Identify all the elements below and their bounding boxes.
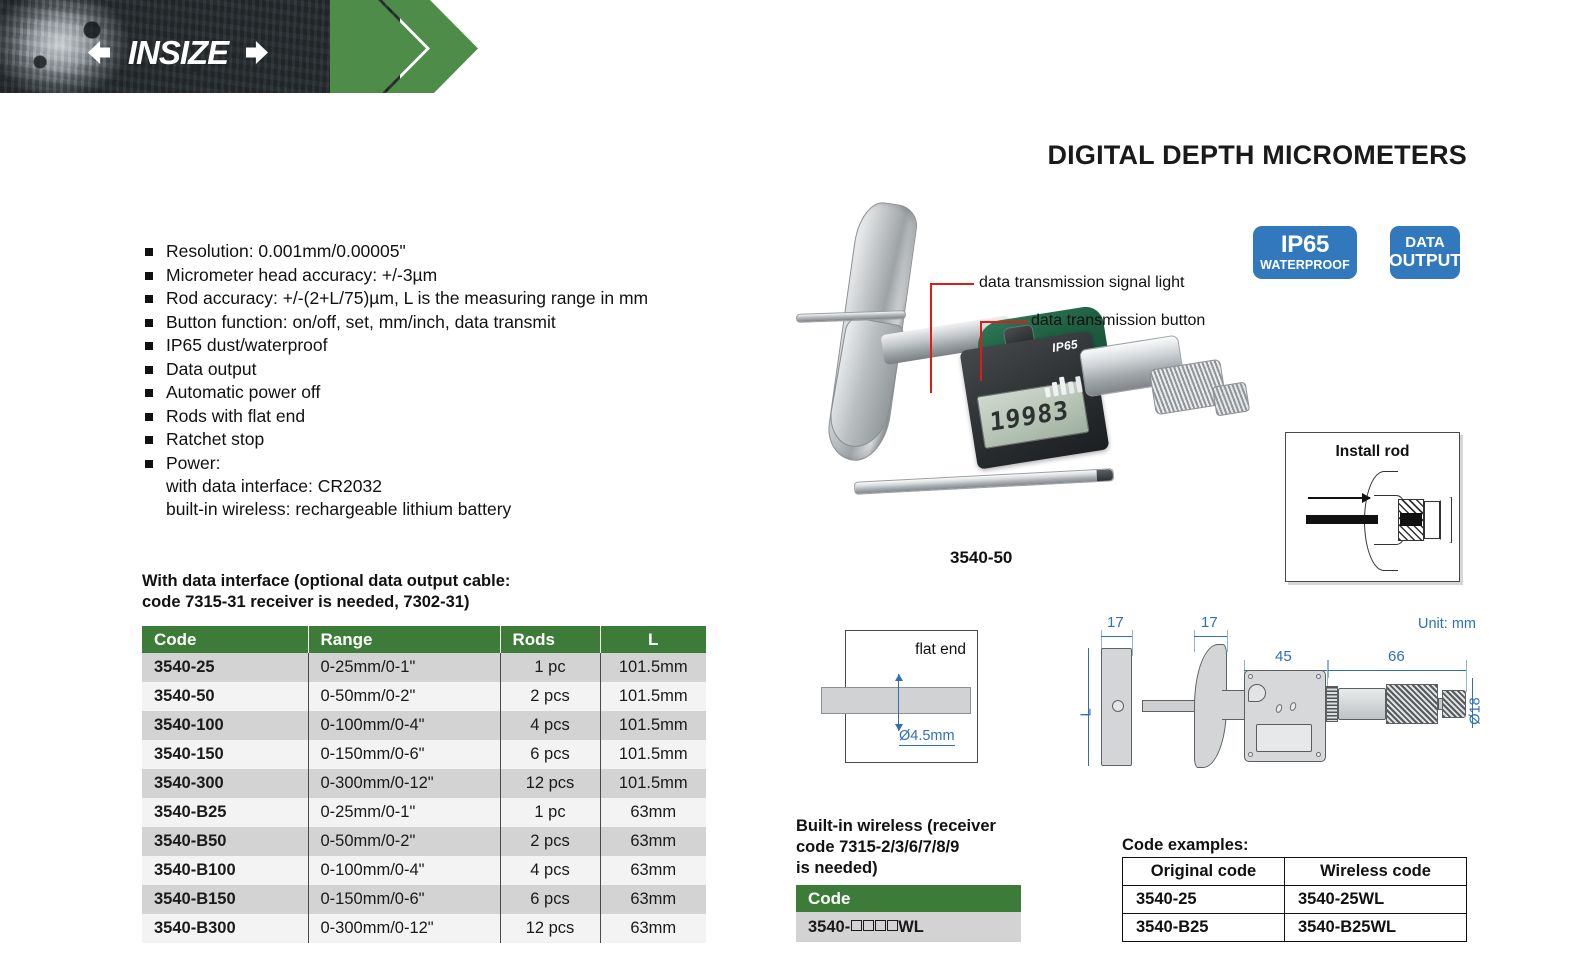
badge-line-2: WATERPROOF (1260, 259, 1350, 272)
cell-range: 0-25mm/0-1" (308, 653, 500, 682)
placeholder-square-icon (875, 920, 886, 931)
square-bullet-icon (145, 295, 153, 303)
cell-range: 0-50mm/0-2" (308, 827, 500, 856)
badge-line-1: IP65 (1281, 233, 1329, 257)
logo-left-arrow-icon (88, 41, 110, 64)
placeholder-square-icon (887, 920, 898, 931)
drawing-ratchet-strip (1326, 686, 1338, 722)
key-bar (1044, 387, 1051, 398)
unit-label: Unit: mm (1418, 616, 1476, 632)
cell-code: 3540-25 (142, 653, 308, 682)
table-row: 3540-25 0-25mm/0-1" 1 pc 101.5mm (142, 653, 706, 682)
square-bullet-icon (145, 413, 153, 421)
extension-line (1466, 660, 1467, 692)
cell-code: 3540-150 (142, 740, 308, 769)
cell-range: 0-100mm/0-4" (308, 711, 500, 740)
spec-item: Button function: on/off, set, mm/inch, d… (143, 311, 783, 334)
spec-item: IP65 dust/waterproof (143, 334, 783, 357)
column-header-wireless-code: Wireless code (1285, 858, 1467, 886)
column-header-range: Range (308, 626, 500, 653)
install-rod-diagram: Install rod (1285, 432, 1460, 582)
banner-divider (0, 93, 1587, 97)
callout-leader-line-vertical (980, 321, 982, 381)
square-bullet-icon (145, 342, 153, 350)
cell-wireless-code-pattern: 3540-WL (796, 912, 1021, 942)
cell-l: 63mm (600, 914, 706, 943)
column-header-code: Code (796, 885, 1021, 912)
spec-item: Rod accuracy: +/-(2+L/75)µm, L is the me… (143, 287, 783, 310)
code-examples-table: Original code Wireless code 3540-25 3540… (1122, 857, 1467, 942)
cell-l: 63mm (600, 798, 706, 827)
badge-line-2: OUTPUT (1389, 252, 1461, 270)
cell-range: 0-150mm/0-6" (308, 740, 500, 769)
table-row: 3540-B25 0-25mm/0-1" 1 pc 63mm (142, 798, 706, 827)
wireless-code-table: Code 3540-WL (796, 885, 1021, 942)
cell-code: 3540-50 (142, 682, 308, 711)
table-row: 3540-50 0-50mm/0-2" 2 pcs 101.5mm (142, 682, 706, 711)
install-direction-arrow-icon (1308, 497, 1370, 499)
cell-original-code: 3540-B25 (1123, 914, 1285, 942)
lcd-value: 19983 (989, 395, 1070, 437)
cell-l: 63mm (600, 856, 706, 885)
dim-body-length: 45 (1275, 648, 1292, 665)
square-bullet-icon (145, 272, 153, 280)
flat-end-diagram: flat end Ø4.5mm (845, 630, 978, 763)
callout-label-signal-light: data transmission signal light (979, 274, 1184, 292)
white-wedge-shape (378, 0, 1587, 97)
drawing-base-neck (1222, 690, 1246, 720)
install-rod-title: Install rod (1286, 443, 1459, 461)
wireless-table-heading: Built-in wireless (receiver code 7315-2/… (796, 816, 1066, 879)
extension-line (1227, 630, 1228, 652)
insize-logo: INSIZE (92, 32, 264, 72)
drawing-cross-rod (1142, 700, 1200, 712)
callout-leader-line-vertical (930, 283, 932, 393)
callout-leader-line-horizontal (930, 283, 974, 285)
cell-code: 3540-300 (142, 769, 308, 798)
cell-rods: 1 pc (500, 798, 600, 827)
cell-rods: 2 pcs (500, 682, 600, 711)
ip65-waterproof-badge: IP65 WATERPROOF (1253, 226, 1357, 279)
key-bar (1068, 381, 1075, 394)
spec-item: Micrometer head accuracy: +/-3µm (143, 264, 783, 287)
cell-code: 3540-B50 (142, 827, 308, 856)
square-bullet-icon (145, 436, 153, 444)
drawing-screw (1248, 752, 1253, 757)
square-bullet-icon (145, 248, 153, 256)
flat-end-title: flat end (915, 641, 966, 659)
spec-item: Power: (143, 452, 783, 475)
square-bullet-icon (145, 460, 153, 468)
callout-label-transmission-button: data transmission button (1031, 312, 1205, 330)
cell-wireless-code: 3540-25WL (1285, 886, 1467, 914)
spec-item: Rods with flat end (143, 405, 783, 428)
cell-l: 101.5mm (600, 769, 706, 798)
square-bullet-icon (145, 389, 153, 397)
drawing-body-loop (1248, 684, 1266, 702)
key-bar (1059, 377, 1067, 396)
cell-rods: 4 pcs (500, 711, 600, 740)
table-row: 3540-B50 0-50mm/0-2" 2 pcs 63mm (142, 827, 706, 856)
table-row: 3540-B300 0-300mm/0-12" 12 pcs 63mm (142, 914, 706, 943)
flat-end-rod-shape (821, 687, 971, 714)
spec-item: Ratchet stop (143, 428, 783, 451)
spec-text: Resolution: 0.001mm/0.00005" (166, 241, 406, 261)
cell-rods: 1 pc (500, 653, 600, 682)
cell-l: 63mm (600, 827, 706, 856)
callout-leader-line-horizontal (980, 321, 1028, 323)
page-title: DIGITAL DEPTH MICROMETERS (1047, 140, 1467, 171)
column-header-l: L (600, 626, 706, 653)
specifications-list: Resolution: 0.001mm/0.00005" Micrometer … (143, 240, 783, 521)
cell-range: 0-300mm/0-12" (308, 914, 500, 943)
key-bar (1052, 382, 1059, 397)
code-suffix: WL (898, 918, 924, 936)
spec-text: Data output (166, 359, 256, 379)
flat-end-dimension-arrow-icon (898, 674, 899, 731)
spec-item: Data output (143, 358, 783, 381)
measuring-rod-accessory (854, 468, 1114, 495)
data-output-badge: DATA OUTPUT (1390, 226, 1460, 279)
square-bullet-icon (145, 366, 153, 374)
code-prefix: 3540- (808, 918, 850, 936)
spec-text: Rod accuracy: +/-(2+L/75)µm, L is the me… (166, 288, 648, 308)
cell-range: 0-25mm/0-1" (308, 798, 500, 827)
dim-height-label: L (1078, 708, 1095, 716)
table-row: 3540-100 0-100mm/0-4" 4 pcs 101.5mm (142, 711, 706, 740)
spec-text: Micrometer head accuracy: +/-3µm (166, 265, 437, 285)
dimension-line (1088, 648, 1089, 766)
cell-code: 3540-B100 (142, 856, 308, 885)
dimension-drawing: Unit: mm 17 17 45 66 L Ø18 (1050, 608, 1480, 783)
table-header-row: Original code Wireless code (1123, 858, 1467, 886)
cell-original-code: 3540-25 (1123, 886, 1285, 914)
cell-code: 3540-B300 (142, 914, 308, 943)
cell-rods: 2 pcs (500, 827, 600, 856)
table-row: 3540-B150 0-150mm/0-6" 6 pcs 63mm (142, 885, 706, 914)
spec-text: Ratchet stop (166, 429, 264, 449)
cell-code: 3540-B25 (142, 798, 308, 827)
cell-range: 0-150mm/0-6" (308, 885, 500, 914)
table-row: 3540-B25 3540-B25WL (1123, 914, 1467, 942)
cell-range: 0-100mm/0-4" (308, 856, 500, 885)
install-segment-two (1440, 497, 1452, 543)
install-dark-section (1400, 513, 1422, 526)
cell-l: 101.5mm (600, 740, 706, 769)
cell-rods: 12 pcs (500, 914, 600, 943)
flat-end-diameter-label: Ø4.5mm (899, 728, 955, 746)
square-bullet-icon (145, 319, 153, 327)
cell-code: 3540-100 (142, 711, 308, 740)
cell-l: 101.5mm (600, 682, 706, 711)
product-table: Code Range Rods L 3540-25 0-25mm/0-1" 1 … (142, 626, 706, 943)
extension-line (1132, 630, 1133, 656)
spec-sub-text: built-in wireless: rechargeable lithium … (143, 498, 783, 521)
cell-range: 0-300mm/0-12" (308, 769, 500, 798)
dim-plate-width: 17 (1107, 614, 1124, 631)
drawing-screw (1316, 752, 1321, 757)
cell-rods: 6 pcs (500, 885, 600, 914)
drawing-plate-hole (1112, 700, 1124, 712)
main-table-heading: With data interface (optional data outpu… (142, 571, 742, 613)
micrometer-ratchet-stop (1212, 382, 1250, 417)
cell-code: 3540-B150 (142, 885, 308, 914)
spec-text: Rods with flat end (166, 406, 305, 426)
logo-wordmark: INSIZE (128, 36, 228, 69)
product-photo: IP65 19983 (782, 192, 1202, 522)
dim-head-length: 66 (1388, 648, 1405, 665)
extension-line (1194, 630, 1195, 652)
badge-line-1: DATA (1405, 235, 1444, 250)
cell-l: 63mm (600, 885, 706, 914)
spec-text: Button function: on/off, set, mm/inch, d… (166, 312, 556, 332)
cell-rods: 6 pcs (500, 740, 600, 769)
product-model-caption: 3540-50 (950, 548, 1012, 568)
table-row: 3540-300 0-300mm/0-12" 12 pcs 101.5mm (142, 769, 706, 798)
install-segment-one (1424, 501, 1440, 539)
cell-l: 101.5mm (600, 653, 706, 682)
cell-rods: 4 pcs (500, 856, 600, 885)
drawing-sleeve (1338, 688, 1386, 720)
drawing-display-screen (1256, 724, 1312, 752)
drawing-knurled-thimble (1386, 684, 1438, 724)
page-header-banner: INSIZE (0, 0, 1587, 97)
extension-line (1328, 660, 1329, 678)
spec-item: Automatic power off (143, 381, 783, 404)
drawing-screw (1316, 674, 1321, 679)
column-header-rods: Rods (500, 626, 600, 653)
dim-thimble-diameter: Ø18 (1468, 697, 1484, 724)
table-row: 3540-25 3540-25WL (1123, 886, 1467, 914)
cell-range: 0-50mm/0-2" (308, 682, 500, 711)
dimension-line (1194, 636, 1227, 637)
drawing-screw (1248, 674, 1253, 679)
cell-rods: 12 pcs (500, 769, 600, 798)
key-bar (1075, 376, 1082, 393)
table-header-row: Code Range Rods L (142, 626, 706, 653)
placeholder-square-icon (863, 920, 874, 931)
dimension-line (1328, 670, 1466, 671)
cell-l: 101.5mm (600, 711, 706, 740)
spec-sub-text: with data interface: CR2032 (143, 475, 783, 498)
table-row: 3540-WL (796, 912, 1021, 942)
spec-item: Resolution: 0.001mm/0.00005" (143, 240, 783, 263)
install-rod-shape (1306, 515, 1378, 524)
dimension-line (1101, 636, 1132, 637)
table-header-row: Code (796, 885, 1021, 912)
drawing-ratchet-cap (1442, 690, 1466, 718)
spec-text: Automatic power off (166, 382, 320, 402)
table-row: 3540-B100 0-100mm/0-4" 4 pcs 63mm (142, 856, 706, 885)
spec-text: IP65 dust/waterproof (166, 335, 327, 355)
dim-base-width: 17 (1201, 614, 1218, 631)
spec-text: Power: (166, 453, 220, 473)
column-header-original-code: Original code (1123, 858, 1285, 886)
table-row: 3540-150 0-150mm/0-6" 6 pcs 101.5mm (142, 740, 706, 769)
cell-wireless-code: 3540-B25WL (1285, 914, 1467, 942)
placeholder-square-icon (851, 920, 862, 931)
examples-heading: Code examples: (1122, 835, 1249, 856)
column-header-code: Code (142, 626, 308, 653)
